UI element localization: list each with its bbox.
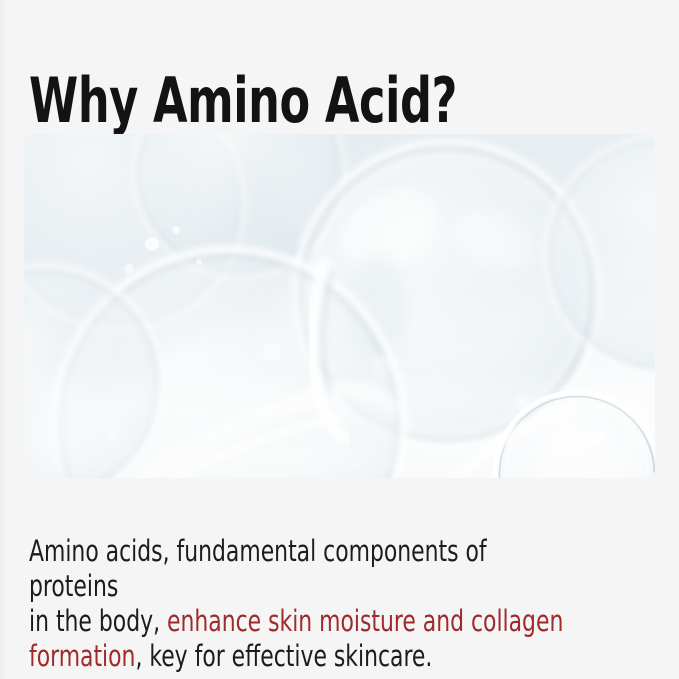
infographic-panel: Why Amino Acid?	[0, 0, 679, 679]
caption-line-3: formation, key for effective skincare.	[29, 639, 567, 674]
caption-line-2: in the body, enhance skin moisture and c…	[29, 604, 567, 639]
caption-line-1: Amino acids, fundamental components of p…	[29, 534, 567, 604]
hero-image	[24, 134, 655, 478]
page-title: Why Amino Acid?	[29, 66, 525, 136]
caption-segment: , key for effective skincare.	[135, 639, 432, 673]
caption-highlight-segment: formation	[29, 639, 135, 673]
caption-text: Amino acids, fundamental components of p…	[29, 534, 567, 674]
caption-highlight-segment: enhance skin moisture and collagen	[167, 604, 563, 638]
left-edge-strip	[0, 0, 6, 679]
caption-segment: Amino acids, fundamental components of p…	[29, 534, 494, 603]
bubbles-illustration	[24, 134, 655, 478]
caption-segment: in the body,	[29, 604, 167, 638]
